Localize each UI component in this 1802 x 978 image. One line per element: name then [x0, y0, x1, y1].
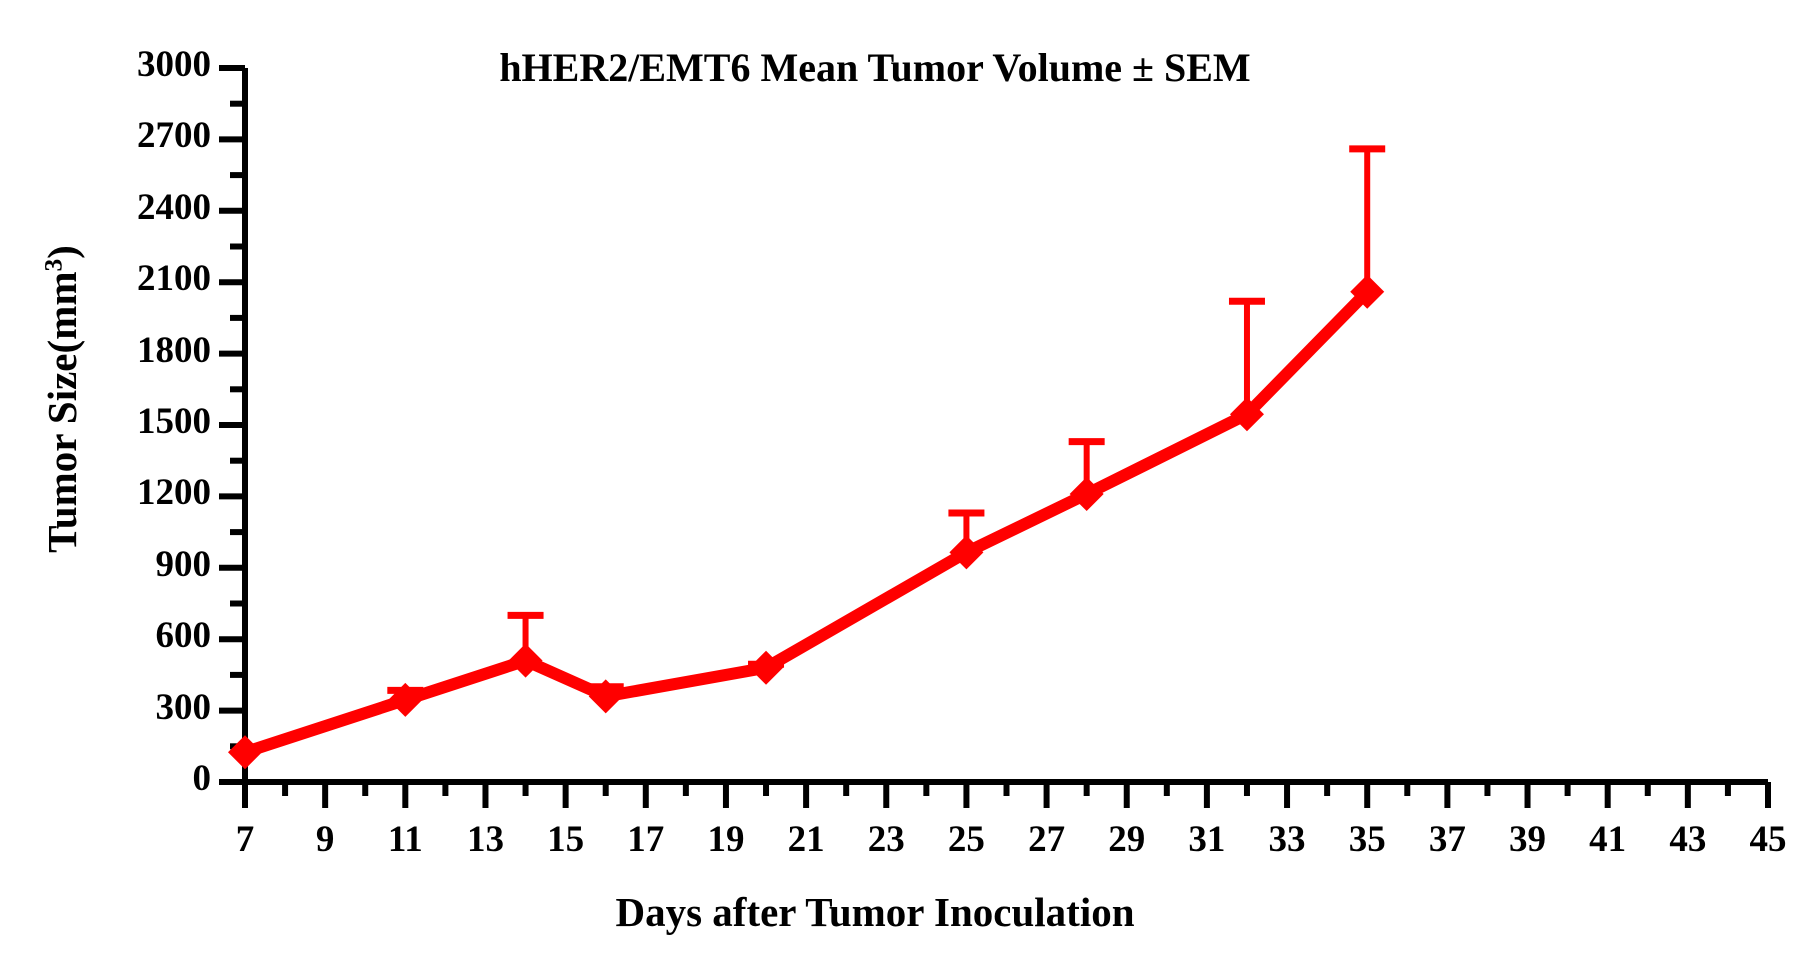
data-point-marker — [228, 735, 262, 769]
y-tick-label: 3000 — [137, 43, 211, 86]
y-tick-label: 1500 — [137, 400, 211, 443]
y-tick-label: 2100 — [137, 257, 211, 300]
y-tick-label: 900 — [156, 543, 212, 586]
y-tick-label: 2700 — [137, 114, 211, 157]
x-tick-label: 45 — [1718, 818, 1802, 861]
y-tick-label: 2400 — [137, 186, 211, 229]
series-line — [245, 292, 1367, 753]
y-tick-label: 1800 — [137, 329, 211, 372]
chart-figure: hHER2/EMT6 Mean Tumor Volume ± SEM Tumor… — [0, 0, 1802, 978]
series-markers — [228, 275, 1384, 770]
y-tick-label: 0 — [193, 757, 212, 800]
y-tick-label: 600 — [156, 614, 212, 657]
data-line — [245, 292, 1367, 753]
y-tick-label: 1200 — [137, 471, 211, 514]
data-point-marker — [509, 644, 543, 678]
y-tick-label: 300 — [156, 686, 212, 729]
